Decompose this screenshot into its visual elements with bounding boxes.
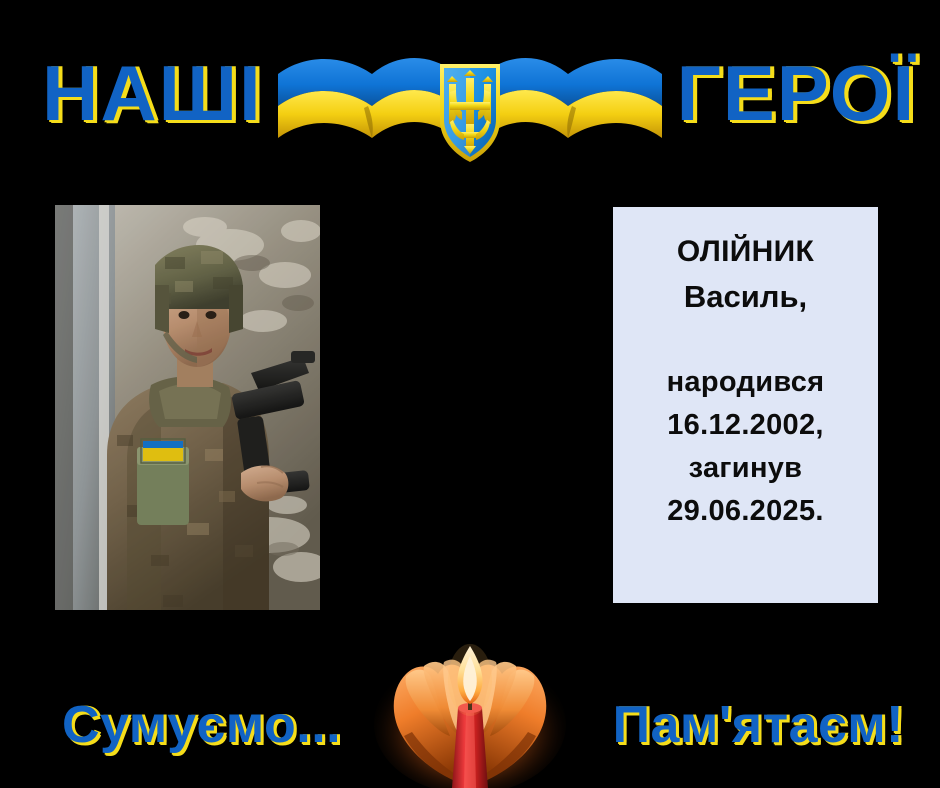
- soldier-photo: [55, 205, 320, 610]
- header-word-left: НАШІ: [42, 52, 263, 134]
- memorial-poster: НАШІ ГЕРОЇ: [0, 0, 940, 788]
- died-label: загинув: [623, 447, 868, 490]
- hands-holding-candle-icon: [372, 640, 568, 788]
- born-date: 16.12.2002,: [623, 404, 868, 447]
- died-date: 29.06.2025.: [623, 490, 868, 533]
- header-word-right: ГЕРОЇ: [677, 52, 916, 134]
- born-label: народився: [623, 361, 868, 404]
- footer-word-right: Пам'ятаєм!: [613, 696, 904, 754]
- soldier-info-panel: ОЛІЙНИК Василь, народився 16.12.2002, за…: [613, 207, 878, 603]
- info-spacer: [623, 319, 868, 361]
- soldier-given-name: Василь,: [623, 274, 868, 319]
- soldier-surname: ОЛІЙНИК: [623, 229, 868, 274]
- footer-word-left: Сумуємо...: [62, 696, 341, 754]
- ukraine-coat-of-arms-icon: [268, 28, 672, 168]
